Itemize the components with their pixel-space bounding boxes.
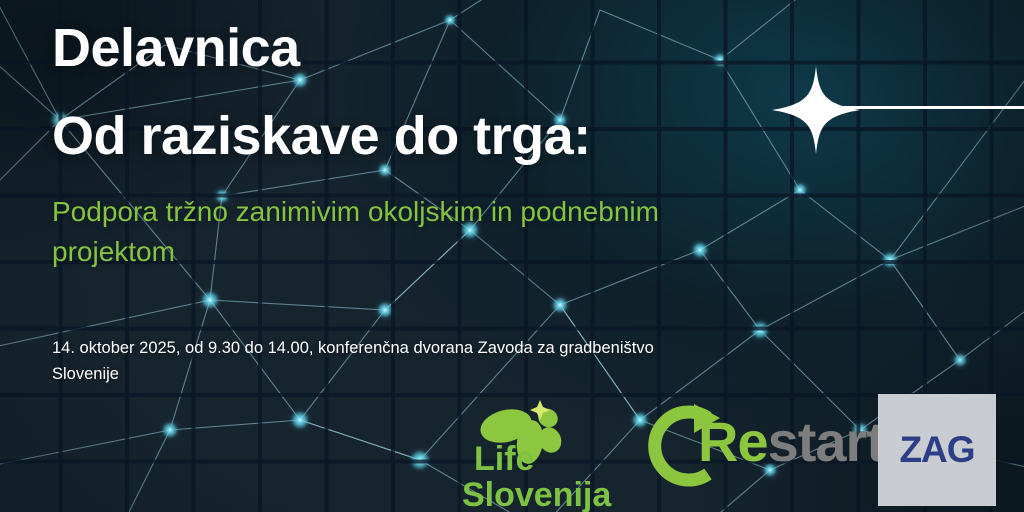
sparkle-star-icon <box>770 64 862 156</box>
life-logo-line2: Slovenija <box>462 478 602 512</box>
restart-logo-prefix: Re <box>698 410 768 473</box>
life-logo-wordmark: Life Slovenija <box>462 442 602 512</box>
page-subtitle: Podpora tržno zanimivim okoljskim in pod… <box>52 192 672 272</box>
restart-logo-wordmark: Restart <box>698 414 884 470</box>
page-title-line1: Delavnica <box>52 20 300 77</box>
page-title-line2: Od raziskave do trga: <box>52 108 591 165</box>
zag-logo-wordmark: ZAG <box>899 429 974 471</box>
event-banner: Delavnica Od raziskave do trga: Podpora … <box>0 0 1024 512</box>
logo-zag: ZAG <box>878 394 996 506</box>
restart-logo-suffix: start <box>768 410 884 473</box>
logo-restart: Restart <box>624 400 854 492</box>
horizontal-rule <box>828 106 1024 109</box>
life-logo-line1: Life <box>462 442 602 476</box>
event-dateline: 14. oktober 2025, od 9.30 do 14.00, konf… <box>52 336 672 387</box>
logo-life-slovenija: Life Slovenija <box>462 398 602 512</box>
